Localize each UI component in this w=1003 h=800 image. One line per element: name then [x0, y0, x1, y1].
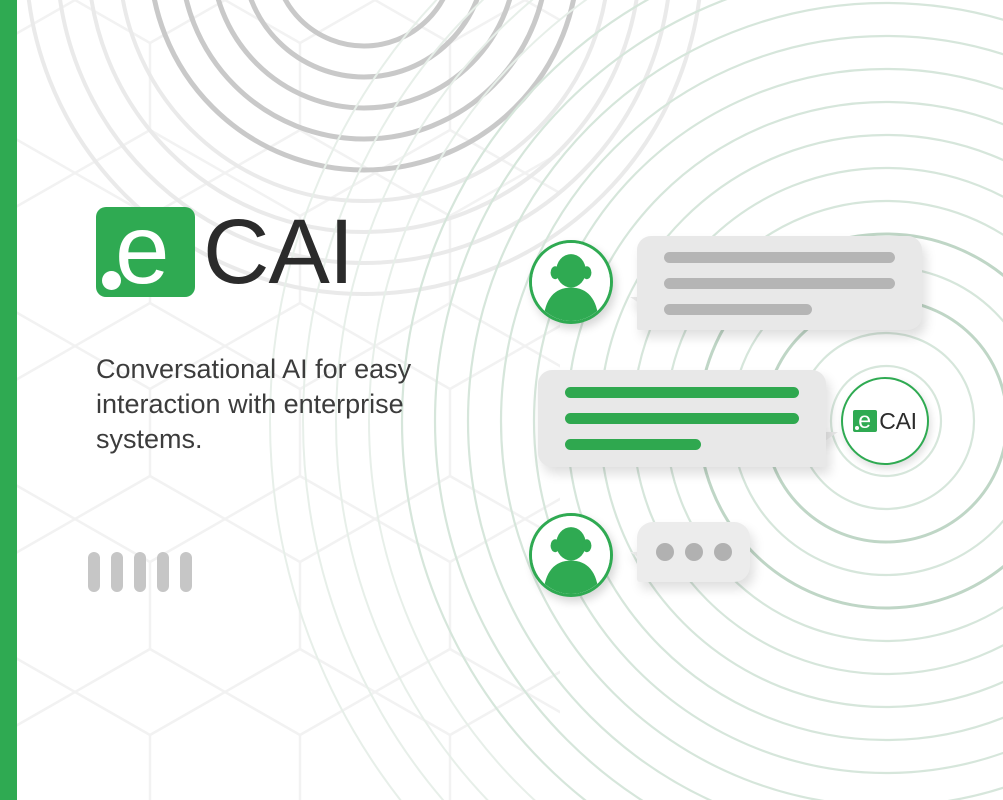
equalizer-bar [157, 552, 169, 592]
bubble-text-line [565, 439, 701, 450]
equalizer-bar [111, 552, 123, 592]
left-accent-bar [0, 0, 17, 800]
chat-bubble-outgoing [538, 370, 826, 467]
tagline-text: Conversational AI for easy interaction w… [96, 352, 448, 457]
typing-dot-icon [714, 543, 732, 561]
equalizer-decoration [88, 552, 192, 592]
hero-banner: e CAI Conversational AI for easy interac… [0, 0, 1003, 800]
user-avatar-icon [529, 240, 613, 324]
badge-logo-mark-icon: e [853, 410, 877, 432]
logo-wordmark: CAI [203, 207, 353, 297]
chat-bubble-incoming [637, 236, 922, 330]
logo-mark-icon: e [96, 207, 195, 297]
user-avatar-icon [529, 513, 613, 597]
bubble-text-line [664, 252, 895, 263]
bubble-text-line [664, 278, 895, 289]
typing-dot-icon [656, 543, 674, 561]
logo-letter-e: e [115, 204, 168, 294]
ecai-logo: e CAI [96, 207, 353, 297]
bubble-text-line [664, 304, 812, 315]
ecai-badge: e CAI [841, 377, 929, 465]
equalizer-bar [180, 552, 192, 592]
bubble-text-line [565, 387, 799, 398]
chat-bubble-typing [637, 522, 750, 582]
equalizer-bar [134, 552, 146, 592]
typing-dot-icon [685, 543, 703, 561]
bubble-text-line [565, 413, 799, 424]
badge-wordmark: CAI [879, 410, 916, 432]
equalizer-bar [88, 552, 100, 592]
badge-logo-letter-e: e [858, 409, 870, 431]
